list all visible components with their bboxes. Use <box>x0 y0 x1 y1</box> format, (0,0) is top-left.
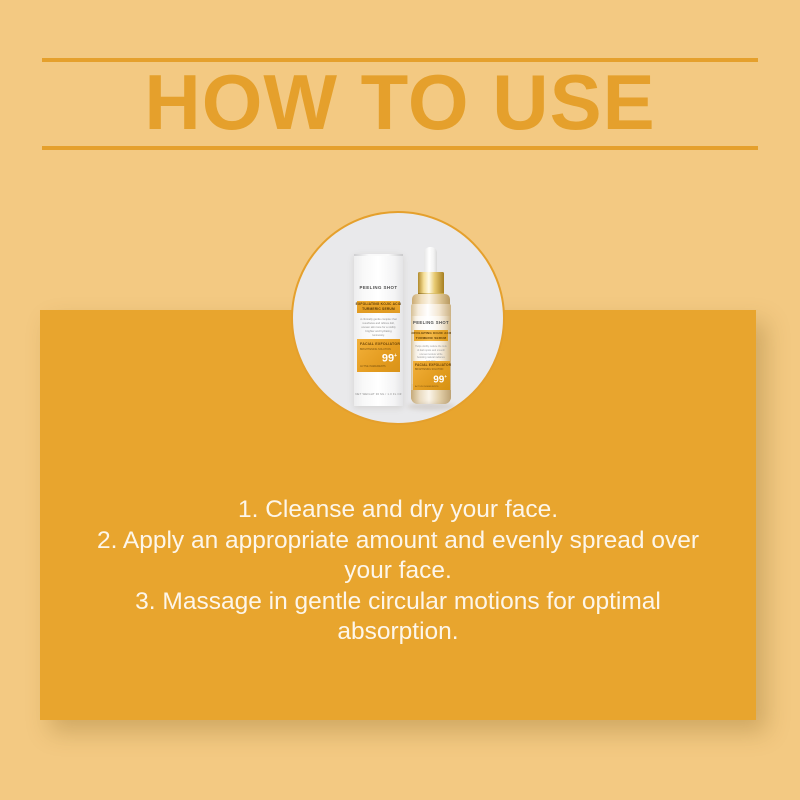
dropper-bulb <box>424 247 437 274</box>
poster-canvas: HOW TO USE PEELING SHOT EXFOLIATING KOJI… <box>0 0 800 800</box>
serum-bottle: PEELING SHOT EXFOLIATING KOJIC ACID TURM… <box>401 247 461 412</box>
bottle-claim-panel: FACIAL EXFOLIATOR BRIGHTENING SOLUTION 9… <box>413 361 450 391</box>
carton-top-edge <box>354 254 403 256</box>
carton-claim-number-value: 99 <box>382 353 394 365</box>
carton-brand-name: PEELING SHOT <box>354 285 403 290</box>
carton-claim-title: FACIAL EXFOLIATOR <box>360 342 400 346</box>
bottle-product-band: EXFOLIATING KOJIC ACID TURMERIC SERUM <box>414 330 448 341</box>
carton-description: A clinically gentle complex that resurfa… <box>360 318 397 338</box>
bottle-claim-number-sup: + <box>444 374 447 379</box>
bottle-claim-footer: ACTIVE INGREDIENTS <box>415 386 438 388</box>
carton-net-volume: NET WEIGHT 30 ML / 1.0 FL OZ <box>354 392 403 396</box>
carton-claim-panel: FACIAL EXFOLIATOR BRIGHTENING SOLUTION 9… <box>357 339 400 372</box>
carton-claim-number: 99+ <box>382 351 397 365</box>
header-section: HOW TO USE <box>0 0 800 170</box>
bottle-claim-number-value: 99 <box>433 374 444 385</box>
bottle-body: PEELING SHOT EXFOLIATING KOJIC ACID TURM… <box>411 304 451 404</box>
carton-product-band: EXFOLIATING KOJIC ACID TURMERIC SERUM <box>357 301 400 313</box>
page-title: HOW TO USE <box>0 57 800 147</box>
bottle-base <box>411 390 451 404</box>
carton-claim-footer: ACTIVE INGREDIENTS <box>360 365 386 368</box>
instruction-step-1: 1. Cleanse and dry your face. <box>40 495 756 526</box>
carton-claim-number-sup: + <box>394 353 397 359</box>
carton-band-line-2: TURMERIC SERUM <box>362 307 395 312</box>
bottle-brand-name: PEELING SHOT <box>411 320 451 325</box>
product-carton: PEELING SHOT EXFOLIATING KOJIC ACID TURM… <box>354 254 403 406</box>
bottle-claim-title: FACIAL EXFOLIATOR <box>415 363 451 367</box>
instruction-step-3: 3. Massage in gentle circular motions fo… <box>40 587 756 648</box>
instruction-step-2: 2. Apply an appropriate amount and evenl… <box>40 526 756 587</box>
bottle-drop-shadow <box>407 403 455 410</box>
bottle-claim-number: 99+ <box>433 372 447 385</box>
header-rule-bottom <box>42 146 758 150</box>
product-image-circle: PEELING SHOT EXFOLIATING KOJIC ACID TURM… <box>291 211 505 425</box>
bottle-band-line-2: TURMERIC SERUM <box>416 336 446 341</box>
dropper-collar <box>418 272 444 296</box>
instructions-block: 1. Cleanse and dry your face. 2. Apply a… <box>40 495 756 648</box>
